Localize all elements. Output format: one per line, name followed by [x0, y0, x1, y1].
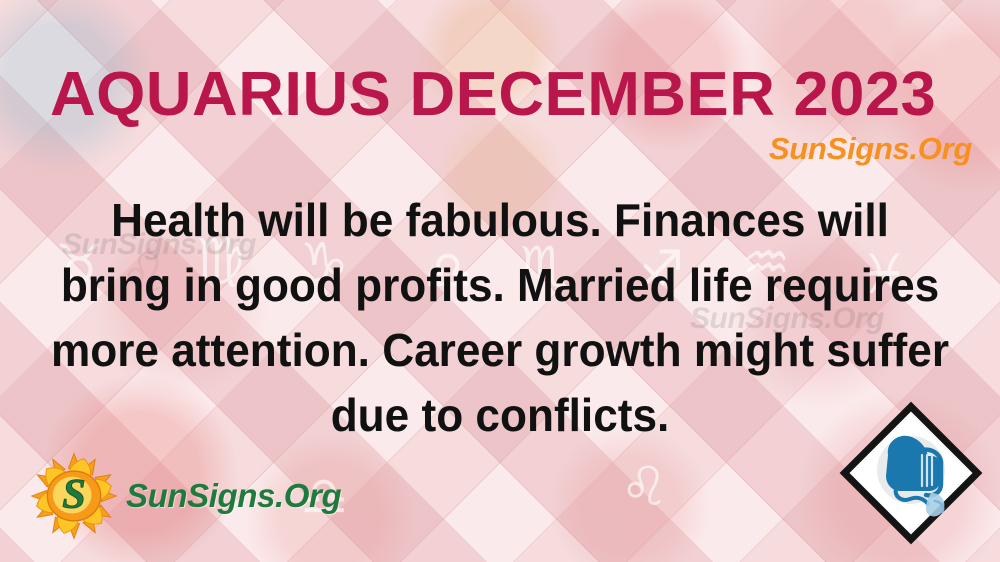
- aquarius-sign-badge: [836, 398, 986, 548]
- svg-text:S: S: [62, 471, 86, 518]
- horoscope-banner: ♉ ♌ ♍ ♑ ♎ ♏ ♐ ♒ ♓ ♎ ♌ SunSigns.Org SunSi…: [0, 0, 1000, 562]
- aquarius-water-bearer-icon: [836, 398, 986, 548]
- page-title: AQUARIUS DECEMBER 2023: [50, 64, 988, 126]
- sun-logo-icon: S: [28, 450, 120, 542]
- site-logo[interactable]: S SunSigns.Org: [28, 450, 341, 542]
- brand-label-top: SunSigns.Org: [769, 131, 972, 167]
- site-logo-label: SunSigns.Org: [126, 477, 341, 515]
- horoscope-body-text: Health will be fabulous. Finances will b…: [51, 188, 950, 448]
